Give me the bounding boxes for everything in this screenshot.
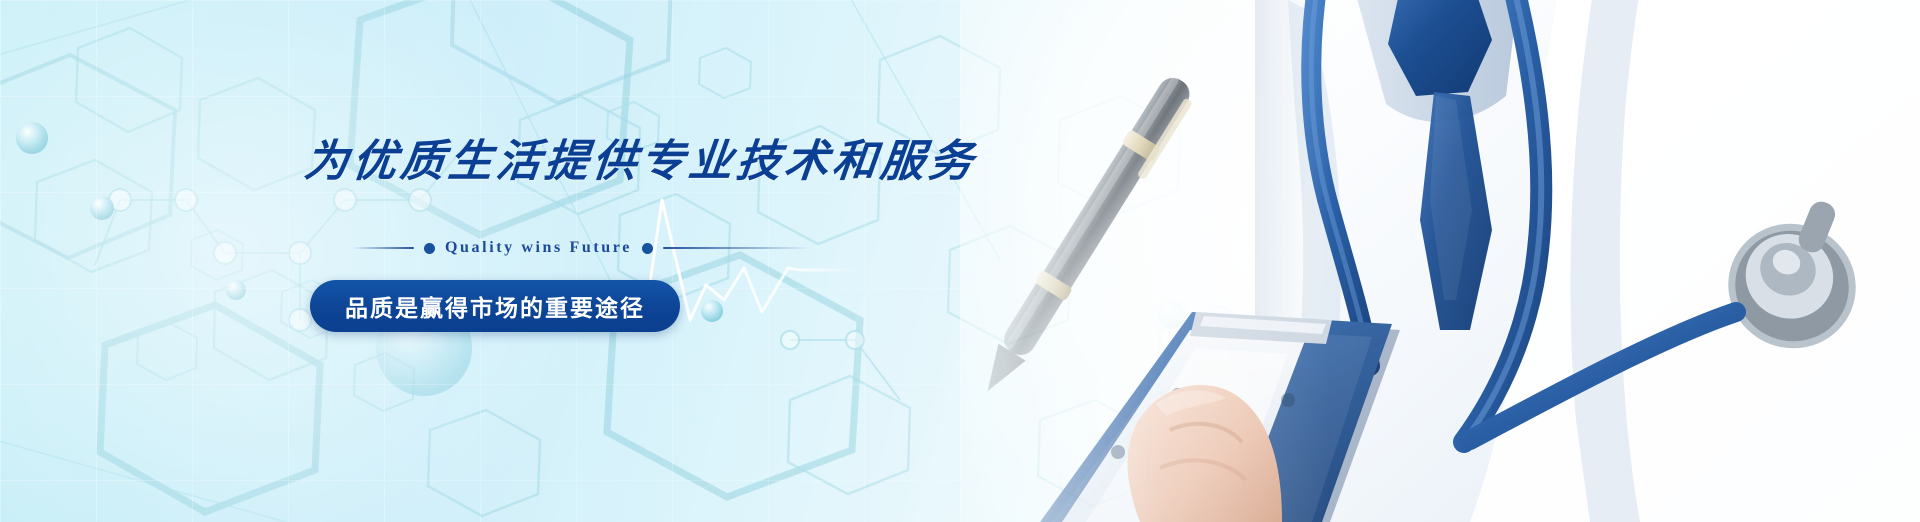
tagline-text: Quality wins Future <box>445 239 632 257</box>
hero-banner: 为优质生活提供专业技术和服务 Quality wins Future 品质是赢得… <box>0 0 1920 522</box>
tagline-left-dot <box>424 243 435 254</box>
slogan-pill-label: 品质是赢得市场的重要途径 <box>345 289 645 323</box>
tagline-right-dot <box>642 243 653 254</box>
slogan-pill-button[interactable]: 品质是赢得市场的重要途径 <box>310 280 680 332</box>
tagline-right-rule <box>663 247 811 249</box>
tagline-left-rule <box>352 247 414 249</box>
tagline-row: Quality wins Future <box>352 239 811 257</box>
banner-content: 为优质生活提供专业技术和服务 Quality wins Future 品质是赢得… <box>0 0 1920 522</box>
page-title: 为优质生活提供专业技术和服务 <box>302 125 981 189</box>
